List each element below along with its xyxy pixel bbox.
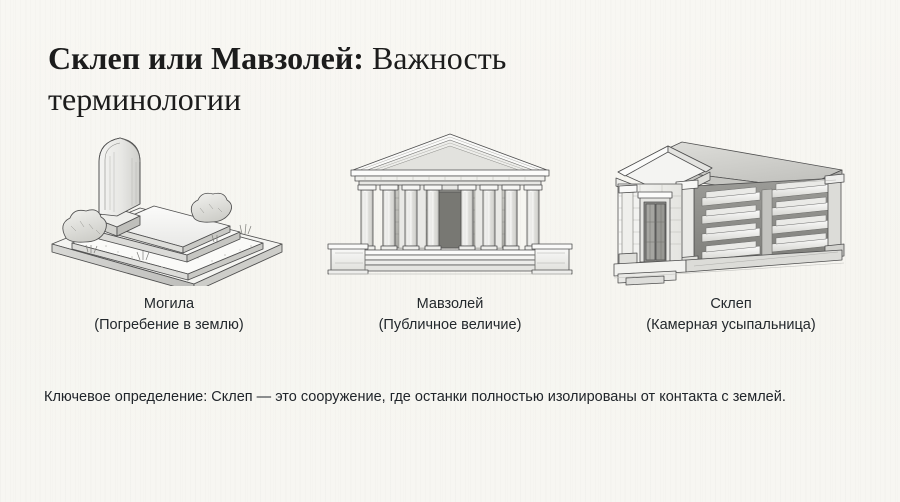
figure-mausoleum: Мавзолей (Публичное величие): [315, 126, 585, 336]
figure-subtitle-crypt: (Камерная усыпальница): [646, 315, 815, 336]
page-title: Склеп или Мавзолей: Важность терминологи…: [48, 38, 708, 120]
key-definition-text: Ключевое определение: Склеп — это сооруж…: [44, 386, 856, 409]
figure-crypt: Склеп (Камерная усыпальница): [596, 126, 866, 336]
figure-caption-grave: Могила (Погребение в землю): [94, 294, 243, 336]
figure-grave: Могила (Погребение в землю): [34, 126, 304, 336]
figure-name-mausoleum: Мавзолей: [417, 296, 484, 312]
figure-name-grave: Могила: [144, 296, 194, 312]
figure-caption-crypt: Склеп (Камерная усыпальница): [646, 294, 815, 336]
figure-row: Могила (Погребение в землю): [0, 126, 900, 336]
mausoleum-illustration: [325, 126, 575, 286]
figure-subtitle-mausoleum: (Публичное величие): [379, 315, 522, 336]
figure-subtitle-grave: (Погребение в землю): [94, 315, 243, 336]
crypt-illustration: [606, 126, 856, 286]
title-light-part: Важность: [364, 40, 506, 76]
figure-name-crypt: Склеп: [710, 296, 751, 312]
figure-caption-mausoleum: Мавзолей (Публичное величие): [379, 294, 522, 336]
title-second-line: терминологии: [48, 81, 241, 117]
title-bold-part: Склеп или Мавзолей:: [48, 40, 364, 76]
grave-illustration: [44, 126, 294, 286]
slide-canvas: Склеп или Мавзолей: Важность терминологи…: [0, 0, 900, 502]
